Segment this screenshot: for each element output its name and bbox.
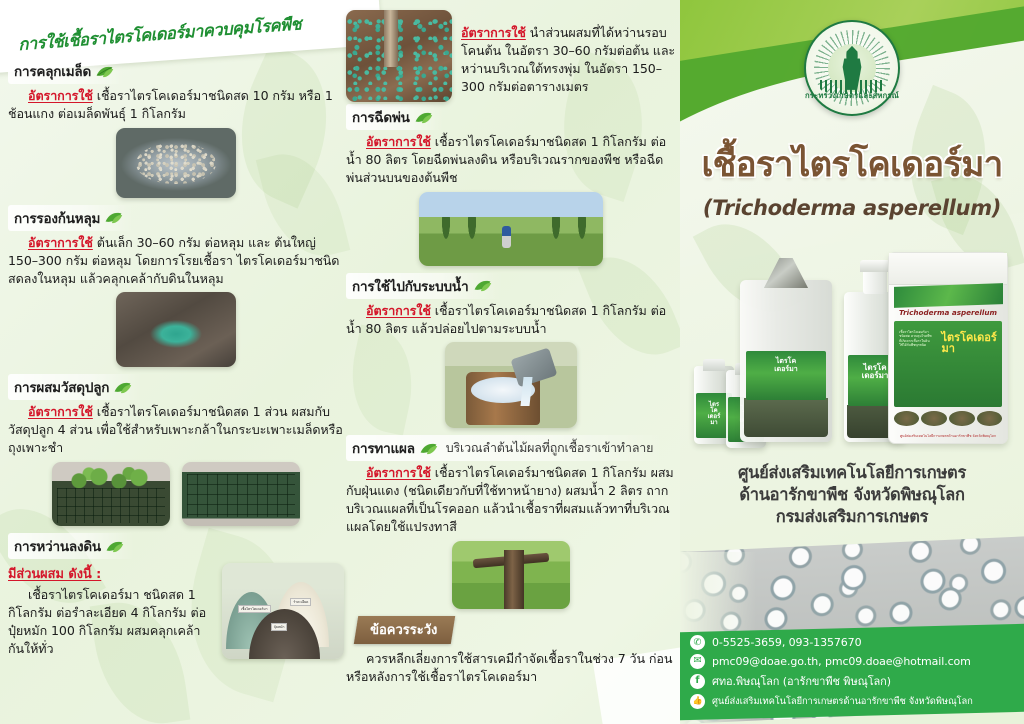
section-heading: การผสมวัสดุปลูก [8, 374, 142, 400]
section-body: อัตราการใช้ เชื้อราไตรโคเดอร์มาชนิดสด 1 … [346, 464, 676, 536]
org-line-2: ด้านอารักขาพืช จังหวัดพิษณุโลก [680, 484, 1024, 506]
section-heading-subtext: บริเวณลำต้นไม้ผลที่ถูกเชื้อราเข้าทำลาย [446, 438, 653, 458]
product-label-text: ไตรโคเดอร์มา [746, 351, 827, 373]
mixture-label: มีส่วนผสม ดังนี้ : [8, 563, 214, 584]
pouch-green-band [894, 283, 1003, 308]
cover-title: เชื้อราไตรโคเดอร์มา [680, 148, 1024, 183]
section-body: อัตราการใช้ เชื้อราไตรโคเดอร์มาชนิดสด 1 … [346, 133, 676, 187]
pouch-photo-thumb [921, 411, 947, 426]
section-body: อัตราการใช้ เชื้อราไตรโคเดอร์มาชนิดสด 10… [8, 87, 344, 123]
phone-icon: ✆ [690, 635, 705, 650]
section-heading-label: การผสมวัสดุปลูก [14, 376, 109, 398]
contact-row-email[interactable]: ✉ pmc09@doae.go.th, pmc09.doae@hotmail.c… [690, 654, 1014, 669]
facebook-icon: f [690, 674, 705, 689]
farmer-figure [502, 226, 511, 248]
seed-texture [136, 143, 215, 184]
product-photo-group: ไตรโคเดอร์มา ไตรโคเดอร์มา ไตรโคเดอร์มา [692, 248, 1012, 448]
pouch-small-text: เชื้อราไตรโคเดอร์มาชนิดสด ควบคุมโรคพืชที… [899, 330, 938, 347]
contact-email-text: pmc09@doae.go.th, pmc09.doae@hotmail.com [712, 655, 971, 668]
section-wound-paint: การทาแผล บริเวณลำต้นไม้ผลที่ถูกเชื้อราเข… [346, 435, 676, 609]
section-heading: การฉีดพ่น [346, 104, 443, 130]
contact-facebook-text: ศทอ.พิษณุโลก (อารักขาพืช พิษณุโลก) [712, 672, 891, 690]
section-body: อัตราการใช้ ต้นเล็ก 30–60 กรัม ต่อหลุม แ… [8, 234, 344, 288]
left-column: การคลุกเมล็ด อัตราการใช้ เชื้อราไตรโคเดอ… [8, 58, 344, 665]
section-heading: การใช้ไปกับระบบน้ำ [346, 273, 502, 299]
product-label: ไตรโคเดอร์มา [746, 351, 827, 400]
empty-tray-photo [182, 462, 300, 526]
section-broadcast-soil: การหว่านลงดิน มีส่วนผสม ดังนี้ : เชื้อรา… [8, 533, 344, 663]
section-heading: การรองก้นหลุม [8, 205, 133, 231]
section-heading: การคลุกเมล็ด [8, 58, 124, 84]
caution-body: ควรหลีกเลี่ยงการใช้สารเคมีกำจัดเชื้อราใน… [346, 650, 676, 686]
contact-bar: ✆ 0-5525-3659, 093-1357670 ✉ pmc09@doae.… [680, 624, 1024, 720]
section-seed-coating: การคลุกเมล็ด อัตราการใช้ เชื้อราไตรโคเดอ… [8, 58, 344, 198]
tree-shape [551, 217, 561, 243]
section-heading-label: การคลุกเมล็ด [14, 60, 91, 82]
field-spraying-photo [419, 192, 603, 266]
leaf-icon [414, 111, 433, 124]
cover-panel: กระทรวงเกษตรและสหกรณ์ เชื้อราไตรโคเดอร์ม… [680, 0, 1024, 724]
section-heading-label: การหว่านลงดิน [14, 535, 101, 557]
section-body: อัตราการใช้ เชื้อราไตรโคเดอร์มาชนิดสด 1 … [8, 403, 344, 457]
contact-list: ✆ 0-5525-3659, 093-1357670 ✉ pmc09@doae.… [690, 635, 1014, 709]
leaf-icon [473, 279, 492, 292]
seal-caption: กระทรวงเกษตรและสหกรณ์ [786, 90, 918, 102]
section-heading-label: การใช้ไปกับระบบน้ำ [352, 275, 469, 297]
middle-column: อัตราการใช้ นำส่วนผสมที่ได้หว่านรอบโคนต้… [346, 10, 676, 691]
rate-label: อัตราการใช้ [28, 88, 93, 103]
tree-shape [467, 217, 477, 243]
section-heading: การหว่านลงดิน [8, 533, 134, 559]
bottle-cap [703, 359, 725, 371]
leaf-icon [419, 442, 438, 455]
soil-granule-photo [346, 10, 452, 102]
pile-tag: ปุ๋ยหมัก [271, 623, 288, 631]
tree-trunk-photo [452, 541, 570, 609]
caution-badge-label: ข้อควรระวัง [370, 619, 437, 640]
section-body: อัตราการใช้ เชื้อราไตรโคเดอร์มาชนิดสด 1 … [346, 302, 676, 338]
brochure-page: การใช้เชื้อราไตรโคเดอร์มาควบคุมโรคพืช กา… [0, 0, 1024, 724]
pouch-species-name: Trichoderma asperellum [889, 308, 1007, 317]
cover-subtitle: (Trichoderma asperellum) [680, 196, 1024, 220]
org-line-1: ศูนย์ส่งเสริมเทคโนโลยีการเกษตร [680, 462, 1024, 484]
trunk-shape [504, 550, 524, 608]
irrigation-drum-photo [445, 342, 577, 428]
section-heading-label: การรองก้นหลุม [14, 207, 100, 229]
seed-coating-photo [116, 128, 236, 198]
leaf-icon [113, 381, 132, 394]
contact-phone-text: 0-5525-3659, 093-1357670 [712, 636, 861, 649]
contact-row-facebook-page[interactable]: 👍 ศูนย์ส่งเสริมเทคโนโลยีการเกษตรด้านอารั… [690, 694, 1014, 709]
rate-label: อัตราการใช้ [28, 235, 93, 250]
tray-grid-texture [187, 474, 296, 518]
body-text: เชื้อราไตรโคเดอร์มา ชนิดสด 1 กิโลกรัม ต่… [8, 586, 214, 658]
bag-knot [764, 258, 808, 288]
section-caution: ข้อควรระวัง ควรหลีกเลี่ยงการใช้สารเคมีกำ… [346, 616, 676, 686]
rate-label: อัตราการใช้ [366, 303, 431, 318]
section-planting-hole: การรองก้นหลุม อัตราการใช้ ต้นเล็ก 30–60 … [8, 205, 344, 368]
email-icon: ✉ [690, 654, 705, 669]
broadcast-text-block: มีส่วนผสม ดังนี้ : เชื้อราไตรโคเดอร์มา ช… [8, 563, 214, 663]
caution-badge: ข้อควรระวัง [354, 616, 456, 644]
trunk-texture [384, 10, 398, 67]
pouch-top [889, 253, 1007, 285]
section-heading-label: การฉีดพ่น [352, 106, 410, 128]
watering-can [510, 347, 557, 387]
contact-row-phone[interactable]: ✆ 0-5525-3659, 093-1357670 [690, 635, 1014, 650]
leaf-icon [105, 540, 124, 553]
facebook-like-icon: 👍 [690, 694, 705, 709]
pouch-thai-name: ไตรโคเดอร์มา [941, 332, 1002, 354]
section-body: อัตราการใช้ นำส่วนผสมที่ได้หว่านรอบโคนต้… [461, 24, 676, 96]
rate-label: อัตราการใช้ [366, 134, 431, 149]
bottle-cap [860, 260, 890, 272]
tray-with-seedlings-photo [52, 462, 170, 526]
section-growing-media: การผสมวัสดุปลูก อัตราการใช้ เชื้อราไตรโค… [8, 374, 344, 526]
pouch-photo-thumb [949, 411, 975, 426]
bag-contents [744, 398, 829, 437]
pouch-photo-thumb [977, 411, 1003, 426]
broadcast-content-row: มีส่วนผสม ดังนี้ : เชื้อราไตรโคเดอร์มา ช… [8, 563, 344, 663]
pouch-photo-strip [894, 411, 1003, 426]
pile-tag: เชื้อไตรโคเดอร์มา [238, 605, 271, 613]
leaf-icon [104, 211, 123, 224]
compost-mix-photo: เชื้อไตรโคเดอร์มา รำละเอียด ปุ๋ยหมัก [222, 563, 344, 659]
pouch-footer-text: ศูนย์ส่งเสริมเทคโนโลยีการเกษตรด้านอารักข… [889, 434, 1007, 439]
organization-block: ศูนย์ส่งเสริมเทคโนโลยีการเกษตร ด้านอารัก… [680, 462, 1024, 528]
broadcast-rate-row: อัตราการใช้ นำส่วนผสมที่ได้หว่านรอบโคนต้… [346, 10, 676, 102]
section-broadcast-rate: อัตราการใช้ นำส่วนผสมที่ได้หว่านรอบโคนต้… [346, 10, 676, 102]
rate-label: อัตราการใช้ [28, 404, 93, 419]
caution-badge-wrap: ข้อควรระวัง [346, 616, 676, 644]
section-spraying: การฉีดพ่น อัตราการใช้ เชื้อราไตรโคเดอร์ม… [346, 104, 676, 266]
tray-grid-texture [57, 488, 166, 524]
section-irrigation: การใช้ไปกับระบบน้ำ อัตราการใช้ เชื้อราไต… [346, 273, 676, 429]
section-heading: การทาแผล บริเวณลำต้นไม้ผลที่ถูกเชื้อราเข… [346, 435, 663, 461]
plastic-bag-product: ไตรโคเดอร์มา [740, 280, 832, 442]
pile-tag: รำละเอียด [290, 598, 311, 606]
tree-shape [441, 217, 451, 243]
planting-hole-photo [116, 292, 236, 367]
rate-label: อัตราการใช้ [366, 465, 431, 480]
section-heading-label: การทาแผล [352, 437, 415, 459]
tree-shape [577, 217, 587, 243]
pouch-photo-thumb [894, 411, 920, 426]
rate-label: อัตราการใช้ [461, 25, 526, 40]
contact-facebook-page-text: ศูนย์ส่งเสริมเทคโนโลยีการเกษตรด้านอารักข… [712, 694, 973, 709]
foil-pouch-product: Trichoderma asperellum เชื้อราไตรโคเดอร์… [888, 252, 1008, 444]
org-line-3: กรมส่งเสริมการเกษตร [680, 506, 1024, 528]
contact-row-facebook[interactable]: f ศทอ.พิษณุโลก (อารักขาพืช พิษณุโลก) [690, 672, 1014, 690]
leaf-icon [95, 65, 114, 78]
seedling-tray-photos [8, 462, 344, 526]
pouch-body-panel: เชื้อราไตรโคเดอร์มาชนิดสด ควบคุมโรคพืชที… [894, 321, 1003, 407]
